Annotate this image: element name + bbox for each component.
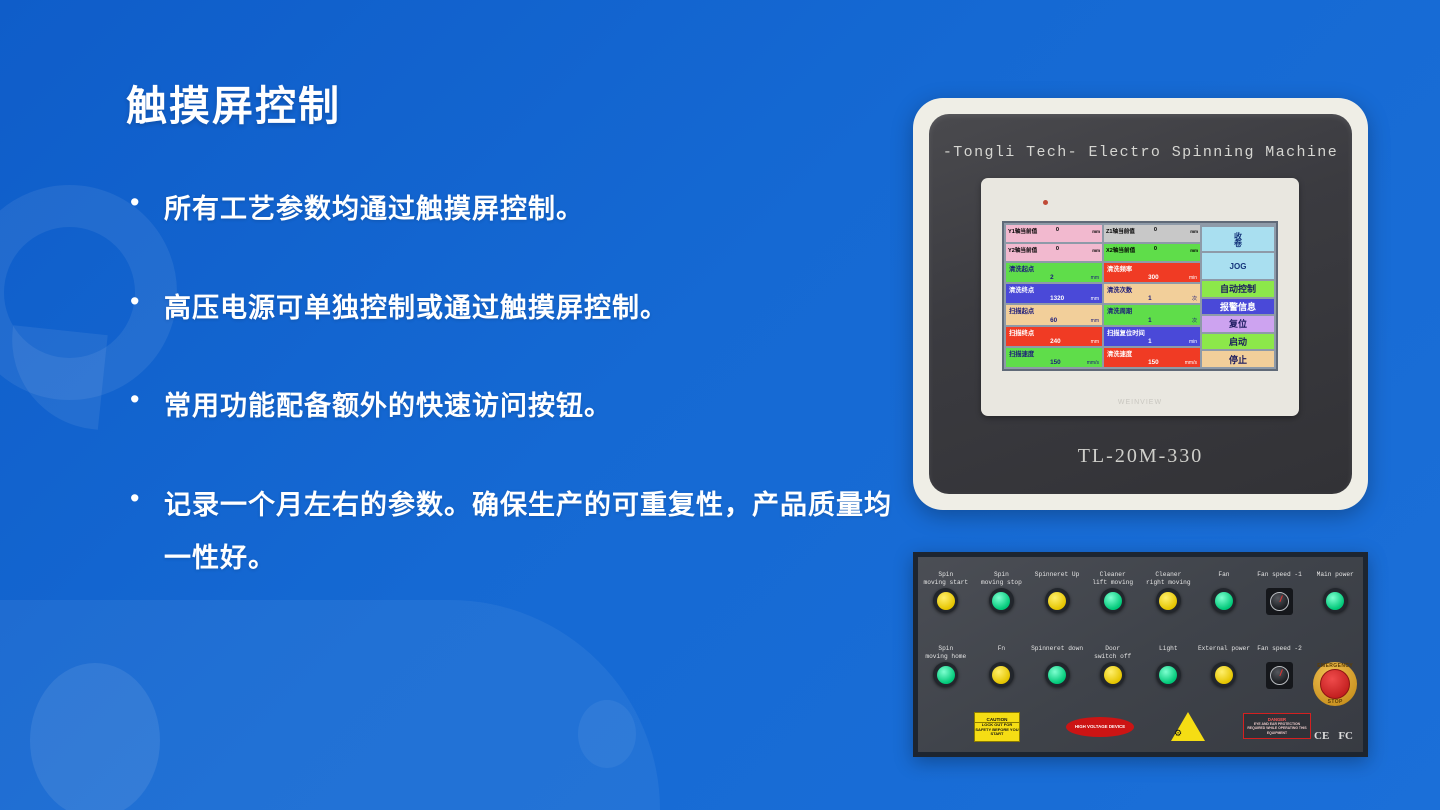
action-button-stop[interactable]: 停止: [1202, 351, 1274, 367]
bullet-marker-icon: •: [126, 282, 164, 320]
warning-caution-label: CAUTION LOCK OUT FOR SAFETY BEFORE YOU S…: [974, 712, 1020, 742]
lamp-yellow-icon[interactable]: [1045, 588, 1070, 613]
page-title: 触摸屏控制: [126, 82, 896, 131]
hmi-touchscreen-photo: -Tongli Tech- Electro Spinning Machine Y…: [913, 98, 1368, 510]
param-label: 清洗次数: [1107, 285, 1132, 294]
control-spinneret-down[interactable]: Spinneret down: [1029, 645, 1085, 706]
control-label: Spinneret down: [1031, 645, 1083, 662]
status-unit: mm: [1092, 229, 1100, 234]
param-label: 清洗速度: [1107, 349, 1132, 358]
hmi-status-middle: Z1轴当前值 0 mm X2轴当前值 0 mm: [1104, 225, 1200, 261]
status-label: Y1轴当前值: [1008, 227, 1037, 235]
param-label: 扫描起点: [1009, 306, 1034, 315]
control-label: Spin moving start: [924, 571, 969, 588]
status-label: X2轴当前值: [1106, 246, 1135, 254]
status-cell-x2: X2轴当前值 0 mm: [1104, 244, 1200, 261]
param-value: 300: [1148, 274, 1159, 281]
status-unit: mm: [1190, 229, 1198, 234]
control-spin-moving-start[interactable]: Spin moving start: [918, 571, 974, 615]
param-value: 1: [1148, 317, 1152, 324]
param-unit: min: [1189, 275, 1197, 281]
status-value: 0: [1056, 246, 1059, 252]
warning-labels-row: CAUTION LOCK OUT FOR SAFETY BEFORE YOU S…: [918, 710, 1363, 744]
param-label: 清洗周期: [1107, 306, 1132, 315]
control-label: Spinneret Up: [1035, 571, 1080, 588]
decor-bottom-left-panel: [0, 600, 660, 810]
lamp-yellow-icon[interactable]: [1156, 588, 1181, 613]
param-label: 清洗起点: [1009, 264, 1034, 273]
param-unit: min: [1189, 339, 1197, 345]
param-unit: mm/s: [1087, 360, 1099, 366]
control-label: Spin moving home: [925, 645, 966, 662]
bullet-text: 常用功能配备额外的快速访问按钮。: [164, 380, 896, 433]
param-value: 2: [1050, 274, 1054, 281]
lamp-green-icon[interactable]: [933, 662, 958, 687]
certification-marks: CE FC: [1314, 730, 1353, 742]
param-value: 1320: [1050, 295, 1064, 302]
emergency-stop-top-text: EMERGENCY: [1313, 663, 1357, 669]
warning-triangle-glyph: ⚙: [1164, 728, 1192, 739]
control-cleaner-right-moving[interactable]: Cleaner right moving: [1141, 571, 1197, 615]
control-spin-moving-stop[interactable]: Spin moving stop: [974, 571, 1030, 615]
control-label: Light: [1159, 645, 1178, 662]
power-led-indicator: [1043, 200, 1048, 205]
control-door-switch-off[interactable]: Door switch off: [1085, 645, 1141, 706]
list-item: • 高压电源可单独控制或通过触摸屏控制。: [126, 282, 896, 335]
lamp-green-icon[interactable]: [1156, 662, 1181, 687]
param-cell-scan-speed[interactable]: 扫描速度 150 mm/s: [1006, 348, 1102, 367]
status-value: 0: [1154, 246, 1157, 252]
param-unit: mm: [1091, 339, 1099, 345]
control-fn[interactable]: Fn: [974, 645, 1030, 706]
warning-body: EYE AND EAR PROTECTION REQUIRED WHILE OP…: [1245, 722, 1309, 734]
rotary-knob-icon[interactable]: [1266, 588, 1293, 615]
param-unit: mm: [1091, 296, 1099, 302]
emergency-stop-knob: [1320, 669, 1350, 699]
param-cell-clean-speed[interactable]: 清洗速度 150 mm/s: [1104, 348, 1200, 367]
machine-model-label: TL-20M-330: [929, 445, 1352, 468]
status-value: 0: [1056, 227, 1059, 233]
param-unit: mm/s: [1185, 360, 1197, 366]
status-cell-z1: Z1轴当前值 0 mm: [1104, 225, 1200, 242]
status-unit: mm: [1190, 248, 1198, 253]
control-panel-top-row: Spin moving start Spin moving stop Spinn…: [918, 571, 1363, 615]
status-unit: mm: [1092, 248, 1100, 253]
decor-ellipse-large: [30, 663, 160, 810]
status-cell-y1: Y1轴当前值 0 mm: [1006, 225, 1102, 242]
hmi-screen[interactable]: Y1轴当前值 0 mm Y2轴当前值 0 mm: [1002, 221, 1278, 371]
param-unit: mm: [1091, 318, 1099, 324]
bullet-marker-icon: •: [126, 380, 164, 418]
param-label: 清洗终点: [1009, 285, 1034, 294]
lamp-yellow-icon[interactable]: [933, 588, 958, 613]
control-external-power[interactable]: External power: [1196, 645, 1252, 706]
control-panel-bottom-row: Spin moving home Fn Spinneret down Door …: [918, 645, 1363, 706]
lamp-yellow-icon[interactable]: [1100, 662, 1125, 687]
control-panel-photo: Spin moving start Spin moving stop Spinn…: [913, 552, 1368, 757]
bullet-marker-icon: •: [126, 183, 164, 221]
lamp-green-icon[interactable]: [1100, 588, 1125, 613]
param-cell-scan-reset-time[interactable]: 扫描复位时间 1 min: [1104, 327, 1200, 346]
param-label: 清洗频率: [1107, 264, 1132, 273]
hmi-display-bezel: Y1轴当前值 0 mm Y2轴当前值 0 mm: [981, 178, 1299, 416]
warning-high-voltage-label: HIGH VOLTAGE DEVICE: [1066, 717, 1134, 737]
emergency-stop-icon[interactable]: EMERGENCY STOP: [1313, 662, 1357, 706]
ce-mark-icon: CE: [1314, 730, 1329, 742]
hmi-left-column: Y1轴当前值 0 mm Y2轴当前值 0 mm: [1006, 225, 1102, 367]
lamp-green-icon[interactable]: [1211, 588, 1236, 613]
status-label: Z1轴当前值: [1106, 227, 1135, 235]
control-cleaner-lift-moving[interactable]: Cleaner lift moving: [1085, 571, 1141, 615]
hmi-screen-grid: Y1轴当前值 0 mm Y2轴当前值 0 mm: [1006, 225, 1274, 367]
param-unit: 次: [1192, 295, 1197, 302]
param-cell-clean-frequency[interactable]: 清洗频率 300 min: [1104, 263, 1200, 282]
action-button-reset[interactable]: 复位: [1202, 316, 1274, 332]
control-label: External power: [1198, 645, 1250, 662]
param-unit: mm: [1091, 275, 1099, 281]
hmi-status-left: Y1轴当前值 0 mm Y2轴当前值 0 mm: [1006, 225, 1102, 261]
param-unit: 次: [1192, 317, 1197, 324]
emergency-stop-bottom-text: STOP: [1313, 699, 1357, 705]
status-label: Y2轴当前值: [1008, 246, 1037, 254]
control-label: Fn: [998, 645, 1005, 662]
lamp-green-icon[interactable]: [1045, 662, 1070, 687]
param-label: 扫描复位时间: [1107, 328, 1145, 337]
warning-danger-label: DANGER EYE AND EAR PROTECTION REQUIRED W…: [1243, 713, 1311, 739]
param-cell-clean-cycle[interactable]: 清洗周期 1 次: [1104, 305, 1200, 324]
hmi-middle-column: Z1轴当前值 0 mm X2轴当前值 0 mm: [1104, 225, 1200, 367]
screen-vendor-logo: WEINVIEW: [981, 399, 1299, 406]
list-item: • 所有工艺参数均通过触摸屏控制。: [126, 183, 896, 236]
param-label: 扫描终点: [1009, 328, 1034, 337]
param-value: 1: [1148, 338, 1152, 345]
param-cell-clean-end[interactable]: 清洗终点 1320 mm: [1006, 284, 1102, 303]
bullet-text: 高压电源可单独控制或通过触摸屏控制。: [164, 282, 896, 335]
param-value: 240: [1050, 338, 1061, 345]
quick-button-jog[interactable]: JOG: [1202, 253, 1274, 279]
action-button-alarm-info[interactable]: 报警信息: [1202, 299, 1274, 315]
decor-ellipse-small: [578, 700, 636, 768]
control-label: Fan speed -1: [1257, 571, 1302, 588]
param-cell-scan-start[interactable]: 扫描起点 60 mm: [1006, 305, 1102, 324]
hmi-quick-buttons: 收卷 JOG: [1202, 225, 1274, 279]
control-fan-speed-2[interactable]: Fan speed -2: [1252, 645, 1308, 706]
param-cell-clean-count[interactable]: 清洗次数 1 次: [1104, 284, 1200, 303]
control-main-power[interactable]: Main power: [1307, 571, 1363, 615]
warning-body: LOCK OUT FOR SAFETY BEFORE YOU START: [975, 723, 1019, 737]
fc-mark-icon: FC: [1338, 730, 1353, 742]
slide-root: 触摸屏控制 • 所有工艺参数均通过触摸屏控制。 • 高压电源可单独控制或通过触摸…: [0, 0, 1440, 810]
param-cell-clean-start[interactable]: 清洗起点 2 mm: [1006, 263, 1102, 282]
bullet-marker-icon: •: [126, 479, 164, 517]
hmi-enclosure: -Tongli Tech- Electro Spinning Machine Y…: [929, 114, 1352, 494]
lamp-green-icon[interactable]: [989, 588, 1014, 613]
control-spinneret-up[interactable]: Spinneret Up: [1029, 571, 1085, 615]
param-value: 150: [1148, 359, 1159, 366]
control-label: Cleaner right moving: [1146, 571, 1191, 588]
action-button-auto-control[interactable]: 自动控制: [1202, 281, 1274, 297]
control-light[interactable]: Light: [1141, 645, 1197, 706]
text-column: 触摸屏控制 • 所有工艺参数均通过触摸屏控制。 • 高压电源可单独控制或通过触摸…: [126, 82, 896, 630]
machine-brand-label: -Tongli Tech- Electro Spinning Machine: [929, 144, 1352, 161]
status-cell-y2: Y2轴当前值 0 mm: [1006, 244, 1102, 261]
param-value: 1: [1148, 295, 1152, 302]
rotary-knob-icon[interactable]: [1266, 662, 1293, 689]
list-item: • 常用功能配备额外的快速访问按钮。: [126, 380, 896, 433]
bullet-text: 记录一个月左右的参数。确保生产的可重复性，产品质量均一性好。: [164, 479, 896, 584]
param-label: 扫描速度: [1009, 349, 1034, 358]
control-label: Fan: [1218, 571, 1229, 588]
control-label: Fan speed -2: [1257, 645, 1302, 662]
control-panel-face: Spin moving start Spin moving stop Spinn…: [918, 557, 1363, 752]
param-value: 150: [1050, 359, 1061, 366]
lamp-yellow-icon[interactable]: [989, 662, 1014, 687]
control-label: Spin moving stop: [981, 571, 1022, 588]
control-label: Door switch off: [1094, 645, 1131, 662]
bullet-list: • 所有工艺参数均通过触摸屏控制。 • 高压电源可单独控制或通过触摸屏控制。 •…: [126, 183, 896, 584]
status-value: 0: [1154, 227, 1157, 233]
param-cell-scan-end[interactable]: 扫描终点 240 mm: [1006, 327, 1102, 346]
decor-ring-tail: [3, 325, 107, 429]
lamp-yellow-icon[interactable]: [1211, 662, 1236, 687]
control-label: Cleaner lift moving: [1092, 571, 1133, 588]
control-fan-speed-1[interactable]: Fan speed -1: [1252, 571, 1308, 615]
hmi-right-column: 收卷 JOG 自动控制 报警信息 复位 启动 停止: [1202, 225, 1274, 367]
lamp-green-icon[interactable]: [1323, 588, 1348, 613]
control-emergency-stop[interactable]: EMERGENCY STOP: [1307, 645, 1363, 706]
control-label: Main power: [1317, 571, 1354, 588]
list-item: • 记录一个月左右的参数。确保生产的可重复性，产品质量均一性好。: [126, 479, 896, 584]
action-button-start[interactable]: 启动: [1202, 334, 1274, 350]
control-fan[interactable]: Fan: [1196, 571, 1252, 615]
quick-button-winding[interactable]: 收卷: [1202, 227, 1274, 251]
control-spin-moving-home[interactable]: Spin moving home: [918, 645, 974, 706]
bullet-text: 所有工艺参数均通过触摸屏控制。: [164, 183, 896, 236]
param-value: 60: [1050, 317, 1057, 324]
